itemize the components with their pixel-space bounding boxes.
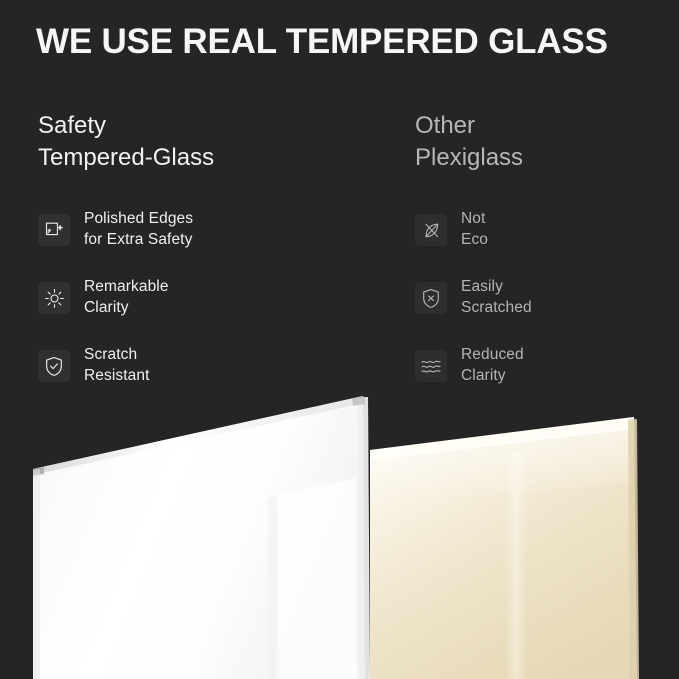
feature-row: Polished Edges for Extra Safety	[38, 207, 378, 253]
column-safety-tempered-glass: Safety Tempered-Glass Polished Edges for…	[38, 110, 378, 411]
feature-label: Polished Edges for Extra Safety	[84, 209, 193, 251]
feature-row: Not Eco	[415, 207, 665, 253]
product-panels-image	[0, 390, 679, 679]
plexiglass-panel	[370, 417, 639, 679]
feature-label: Scratch Resistant	[84, 345, 150, 387]
feature-row: Reduced Clarity	[415, 343, 665, 389]
shield-check-icon	[38, 350, 70, 382]
feature-label: Not Eco	[461, 209, 488, 251]
feature-label: Easily Scratched	[461, 277, 532, 319]
polished-edges-icon	[38, 214, 70, 246]
shield-x-icon	[415, 282, 447, 314]
wavy-lines-icon	[415, 350, 447, 382]
feature-label: Reduced Clarity	[461, 345, 524, 387]
page-title: WE USE REAL TEMPERED GLASS	[36, 22, 608, 62]
promo-comparison-graphic: WE USE REAL TEMPERED GLASS Safety Temper…	[0, 0, 679, 679]
sun-clarity-icon	[38, 282, 70, 314]
column-other-plexiglass: Other Plexiglass Not Eco Easily Scratche…	[415, 110, 665, 411]
feature-row: Easily Scratched	[415, 275, 665, 321]
feature-label: Remarkable Clarity	[84, 277, 169, 319]
tempered-glass-panel	[33, 396, 370, 679]
leaf-crossed-icon	[415, 214, 447, 246]
feature-row: Scratch Resistant	[38, 343, 378, 389]
feature-row: Remarkable Clarity	[38, 275, 378, 321]
column-heading-right: Other Plexiglass	[415, 110, 665, 173]
column-heading-left: Safety Tempered-Glass	[38, 110, 378, 173]
